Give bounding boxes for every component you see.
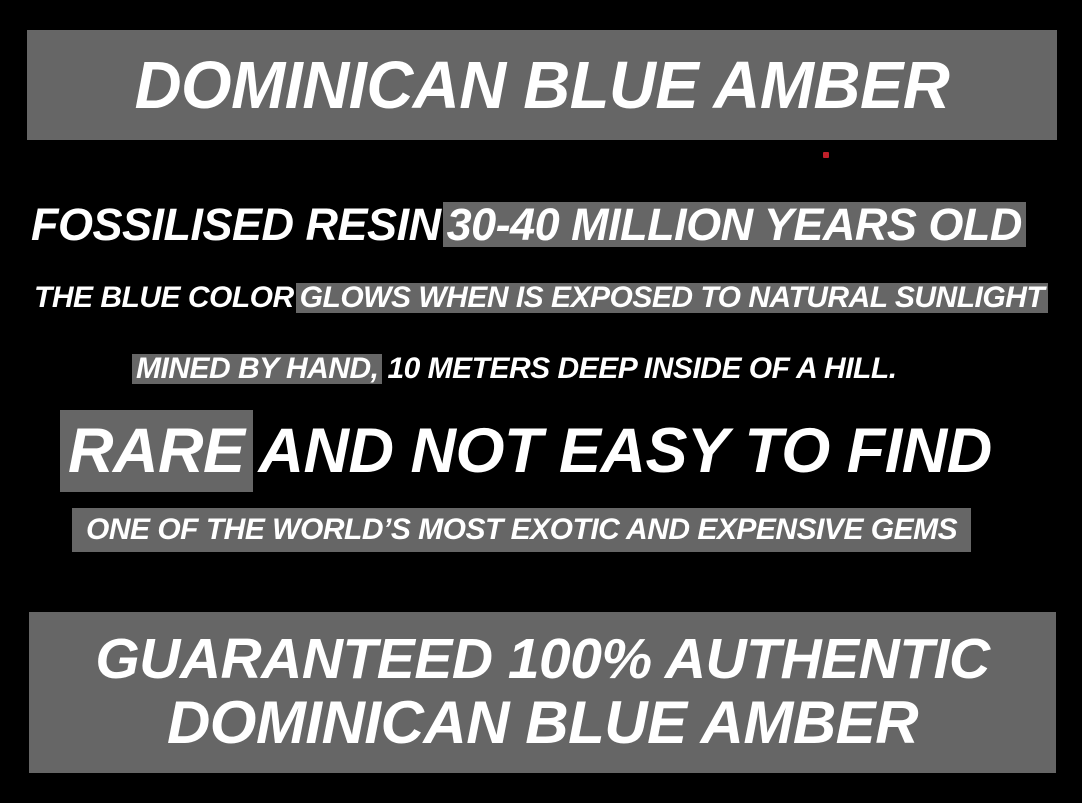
title-banner: DOMINICAN BLUE AMBER bbox=[27, 30, 1057, 140]
claim-text-not-easy-to-find: AND NOT EASY TO FIND bbox=[253, 420, 996, 483]
claim-text-depth: 10 METERS DEEP INSIDE OF A HILL. bbox=[382, 354, 900, 384]
claim-text-the-blue-color: THE BLUE COLOR bbox=[30, 283, 296, 313]
claim-line-rare: RARE AND NOT EASY TO FIND bbox=[60, 410, 996, 492]
claim-highlight-glows: GLOWS WHEN IS EXPOSED TO NATURAL SUNLIGH… bbox=[296, 283, 1049, 313]
claim-line-blue-color: THE BLUE COLOR GLOWS WHEN IS EXPOSED TO … bbox=[30, 276, 1048, 320]
guarantee-banner: GUARANTEED 100% AUTHENTIC DOMINICAN BLUE… bbox=[29, 612, 1056, 773]
claim-line-gems: ONE OF THE WORLD’S MOST EXOTIC AND EXPEN… bbox=[72, 508, 971, 552]
guarantee-line-2: DOMINICAN BLUE AMBER bbox=[167, 691, 918, 756]
poster-canvas: DOMINICAN BLUE AMBER FOSSILISED RESIN 30… bbox=[0, 0, 1082, 803]
claim-text-fossilised-resin: FOSSILISED RESIN bbox=[27, 202, 443, 247]
claim-highlight-rare: RARE bbox=[60, 410, 253, 492]
page-title: DOMINICAN BLUE AMBER bbox=[135, 47, 950, 124]
claim-highlight-exotic-gems: ONE OF THE WORLD’S MOST EXOTIC AND EXPEN… bbox=[72, 508, 971, 552]
claim-highlight-mined-by-hand: MINED BY HAND, bbox=[132, 354, 382, 384]
claim-line-mined: MINED BY HAND, 10 METERS DEEP INSIDE OF … bbox=[132, 347, 901, 391]
red-dot-icon bbox=[823, 152, 829, 158]
claim-line-fossilised: FOSSILISED RESIN 30-40 MILLION YEARS OLD bbox=[27, 196, 1026, 252]
claim-highlight-age: 30-40 MILLION YEARS OLD bbox=[443, 202, 1026, 247]
guarantee-line-1: GUARANTEED 100% AUTHENTIC bbox=[95, 629, 989, 691]
